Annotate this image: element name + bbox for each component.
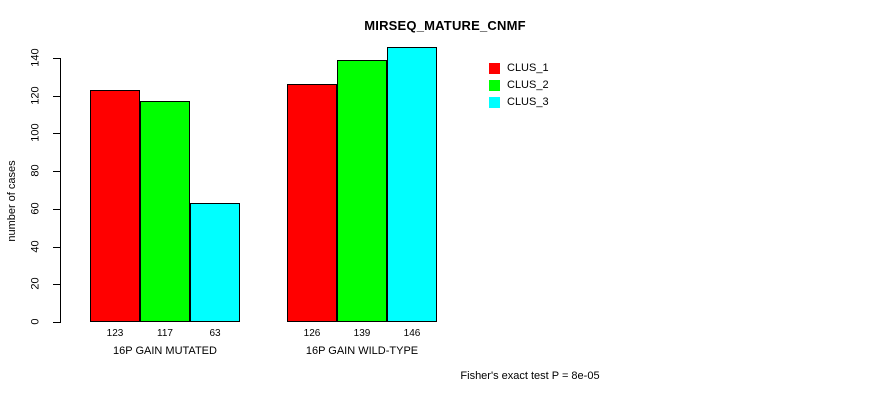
bar-value-label: 63 [190, 329, 240, 339]
y-axis-tick-label-wrap: 0 [22, 316, 50, 328]
legend: CLUS_1CLUS_2CLUS_3 [489, 60, 549, 111]
y-axis-tick-label: 120 [31, 81, 42, 109]
bar-clus_3 [190, 203, 240, 322]
y-axis-tick [53, 58, 60, 59]
y-axis-tick [53, 96, 60, 97]
legend-item-clus_1: CLUS_1 [489, 60, 549, 77]
y-axis-tick [53, 322, 60, 323]
legend-label: CLUS_1 [507, 63, 549, 74]
group-label: 16P GAIN WILD-TYPE [257, 346, 467, 357]
y-axis-tick [53, 133, 60, 134]
y-axis-tick-label-wrap: 80 [22, 165, 50, 177]
y-axis-tick-label: 20 [31, 270, 42, 298]
y-axis-tick-label-wrap: 60 [22, 203, 50, 215]
bar-clus_3 [387, 47, 437, 322]
legend-swatch-icon [489, 63, 500, 74]
y-axis-tick-label: 80 [31, 157, 42, 185]
legend-swatch-icon [489, 97, 500, 108]
y-axis-tick [53, 171, 60, 172]
y-axis-tick-label-wrap: 40 [22, 241, 50, 253]
chart-page: MIRSEQ_MATURE_CNMF 020406080100120140 nu… [0, 0, 890, 400]
y-axis-tick-label-wrap: 20 [22, 278, 50, 290]
legend-label: CLUS_2 [507, 80, 549, 91]
bar-value-label: 139 [337, 329, 387, 339]
y-axis-title: number of cases [6, 151, 18, 251]
fisher-test-annotation: Fisher's exact test P = 8e-05 [460, 370, 599, 382]
bar-value-label: 123 [90, 329, 140, 339]
legend-item-clus_3: CLUS_3 [489, 94, 549, 111]
y-axis-tick-label: 60 [31, 194, 42, 222]
y-axis-tick-label-wrap: 120 [22, 90, 50, 102]
y-axis-tick-label-wrap: 140 [22, 52, 50, 64]
bar-clus_2 [140, 101, 190, 322]
legend-swatch-icon [489, 80, 500, 91]
bar-clus_1 [90, 90, 140, 322]
bar-clus_2 [337, 60, 387, 322]
bar-clus_1 [287, 84, 337, 322]
y-axis-tick-label: 0 [31, 308, 42, 336]
legend-label: CLUS_3 [507, 97, 549, 108]
y-axis-tick-label: 40 [31, 232, 42, 260]
y-axis-tick-label-wrap: 100 [22, 127, 50, 139]
y-axis-tick-label: 140 [31, 44, 42, 72]
y-axis-tick [53, 209, 60, 210]
y-axis-tick [53, 247, 60, 248]
bar-value-label: 126 [287, 329, 337, 339]
footer-note: Fisher's exact test P = 8e-05 [0, 370, 890, 382]
y-axis-tick-label: 100 [31, 119, 42, 147]
group-label: 16P GAIN MUTATED [60, 346, 270, 357]
legend-item-clus_2: CLUS_2 [489, 77, 549, 94]
bar-value-label: 146 [387, 329, 437, 339]
bar-value-label: 117 [140, 329, 190, 339]
y-axis-tick [53, 284, 60, 285]
y-axis-line [60, 58, 61, 323]
plot-area: 020406080100120140 number of cases 12311… [0, 0, 890, 400]
